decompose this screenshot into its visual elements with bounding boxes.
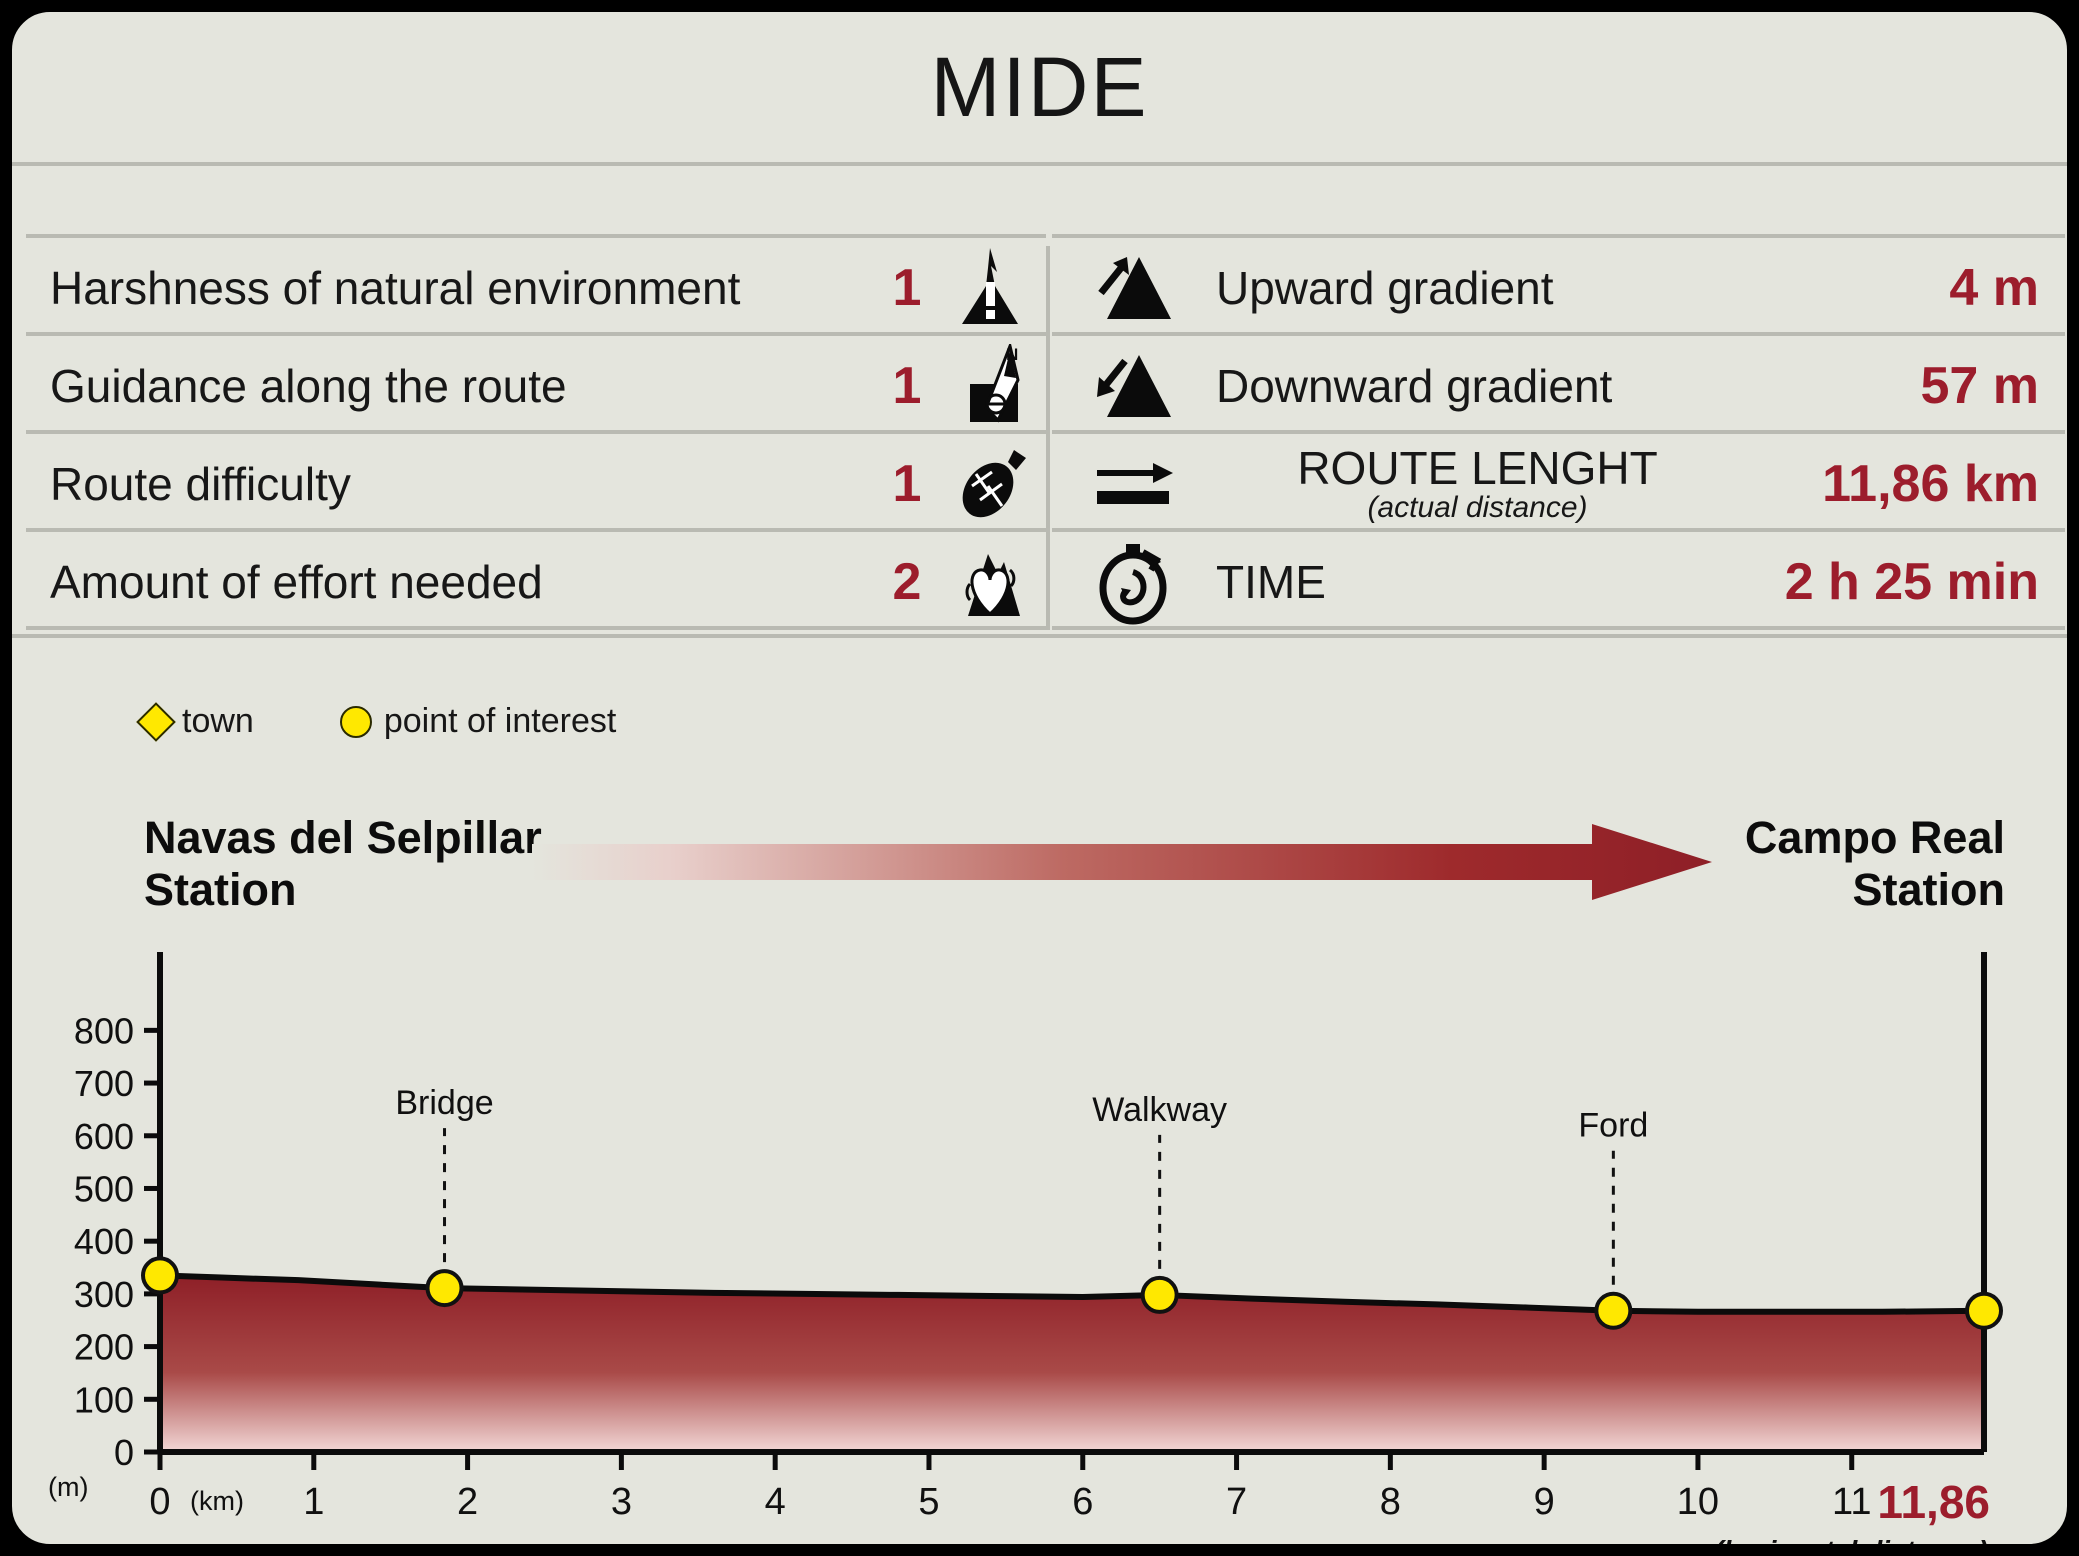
x-axis-end-label: 11,86: [1877, 1476, 1990, 1528]
row-divider: [1052, 234, 2065, 238]
metric-sublabel: (actual distance): [1216, 493, 1739, 523]
metric-label-group: ROUTE LENGHT (actual distance): [1216, 445, 1739, 523]
x-tick-label: 6: [1072, 1481, 1093, 1523]
row-divider: [26, 234, 1046, 238]
x-tick-label: 8: [1380, 1481, 1401, 1523]
criteria-score: 1: [872, 356, 942, 416]
annotation-label: Bridge: [395, 1084, 493, 1122]
metric-value: 4 m: [1739, 258, 2065, 318]
criteria-label: Route difficulty: [26, 457, 872, 511]
legend-item-town: town: [142, 702, 254, 741]
mountain-up-arrow-icon: [1060, 243, 1210, 333]
point-of-interest-marker[interactable]: [143, 1258, 177, 1292]
criteria-row-guidance: Guidance along the route 1 N: [26, 338, 1046, 433]
x-tick-label: 7: [1226, 1481, 1247, 1523]
metric-label: TIME: [1216, 559, 1739, 605]
x-tick-label: 5: [918, 1481, 939, 1523]
metrics-column: Upward gradient 4 m Downward gradient 57…: [1052, 240, 2065, 636]
metric-label: Upward gradient: [1216, 265, 1739, 311]
metric-row-upward-gradient: Upward gradient 4 m: [1052, 240, 2065, 335]
y-tick-label: 700: [74, 1063, 134, 1104]
x-tick-label: 0: [149, 1481, 170, 1523]
criteria-column: Harshness of natural environment 1 Guida…: [26, 240, 1046, 636]
metric-value: 57 m: [1739, 356, 2065, 416]
legend-label: point of interest: [384, 702, 616, 741]
criteria-score: 2: [872, 552, 942, 612]
legend-label: town: [182, 702, 254, 741]
svg-text:N: N: [1006, 345, 1018, 364]
metric-row-time: TIME 2 h 25 min: [1052, 534, 2065, 629]
y-tick-label: 300: [74, 1274, 134, 1315]
criteria-score: 1: [872, 258, 942, 318]
stopwatch-icon: [1060, 537, 1210, 627]
metric-label: Downward gradient: [1216, 363, 1739, 409]
title-bar: MIDE: [12, 12, 2067, 162]
x-axis-unit-label: (km): [190, 1486, 244, 1516]
x-tick-label: 11: [1832, 1481, 1871, 1523]
heart-mountain-icon: [942, 537, 1038, 627]
annotation-label: Walkway: [1092, 1091, 1227, 1129]
point-of-interest-marker[interactable]: [1967, 1294, 2001, 1328]
column-divider: [1046, 246, 1050, 630]
page-title: MIDE: [931, 39, 1149, 136]
point-of-interest-marker[interactable]: [428, 1271, 462, 1305]
compass-map-icon: N: [942, 341, 1038, 431]
distance-arrow-icon: [1060, 439, 1210, 529]
x-tick-label: 2: [457, 1481, 478, 1523]
severity-triangle-icon: [942, 243, 1038, 333]
criteria-label: Harshness of natural environment: [26, 261, 872, 315]
y-tick-label: 100: [74, 1379, 134, 1420]
metric-label: ROUTE LENGHT: [1297, 442, 1657, 494]
y-axis-unit-label: (m): [48, 1472, 88, 1502]
title-divider: [12, 162, 2067, 166]
criteria-label: Amount of effort needed: [26, 555, 872, 609]
point-of-interest-marker-icon: [340, 706, 372, 738]
profile-legend: town point of interest: [142, 702, 616, 741]
x-tick-label: 9: [1534, 1481, 1555, 1523]
elevation-profile-chart: 0100200300400500600700800(m)012345678910…: [12, 912, 2073, 1550]
annotation-label: Ford: [1578, 1107, 1648, 1145]
y-tick-label: 600: [74, 1116, 134, 1157]
metric-value: 2 h 25 min: [1739, 552, 2065, 612]
metric-row-downward-gradient: Downward gradient 57 m: [1052, 338, 2065, 433]
criteria-row-harshness: Harshness of natural environment 1: [26, 240, 1046, 335]
metric-value: 11,86 km: [1739, 454, 2065, 514]
town-marker-icon: [136, 702, 176, 742]
metric-row-route-length: ROUTE LENGHT (actual distance) 11,86 km: [1052, 436, 2065, 531]
legend-item-point-of-interest: point of interest: [340, 702, 616, 741]
point-of-interest-marker[interactable]: [1596, 1294, 1630, 1328]
criteria-row-difficulty: Route difficulty 1: [26, 436, 1046, 531]
x-tick-label: 3: [611, 1481, 632, 1523]
y-tick-label: 200: [74, 1327, 134, 1368]
point-of-interest-marker[interactable]: [1143, 1278, 1177, 1312]
mide-card: MIDE Harshness of natural environment 1: [6, 6, 2073, 1550]
x-tick-label: 1: [303, 1481, 324, 1523]
direction-arrow-icon: [532, 824, 1712, 900]
x-tick-label: 4: [765, 1481, 786, 1523]
criteria-row-effort: Amount of effort needed 2: [26, 534, 1046, 629]
y-tick-label: 400: [74, 1221, 134, 1262]
boot-footprint-icon: [942, 439, 1038, 529]
table-bottom-divider: [12, 634, 2067, 638]
x-tick-label: 10: [1677, 1481, 1719, 1523]
y-tick-label: 500: [74, 1168, 134, 1209]
mountain-down-arrow-icon: [1060, 341, 1210, 431]
mide-table: Harshness of natural environment 1 Guida…: [12, 240, 2067, 636]
criteria-label: Guidance along the route: [26, 359, 872, 413]
y-tick-label: 800: [74, 1010, 134, 1051]
x-axis-caption: (horizontal distance): [1714, 1535, 1988, 1550]
criteria-score: 1: [872, 454, 942, 514]
y-tick-label: 0: [114, 1432, 134, 1473]
